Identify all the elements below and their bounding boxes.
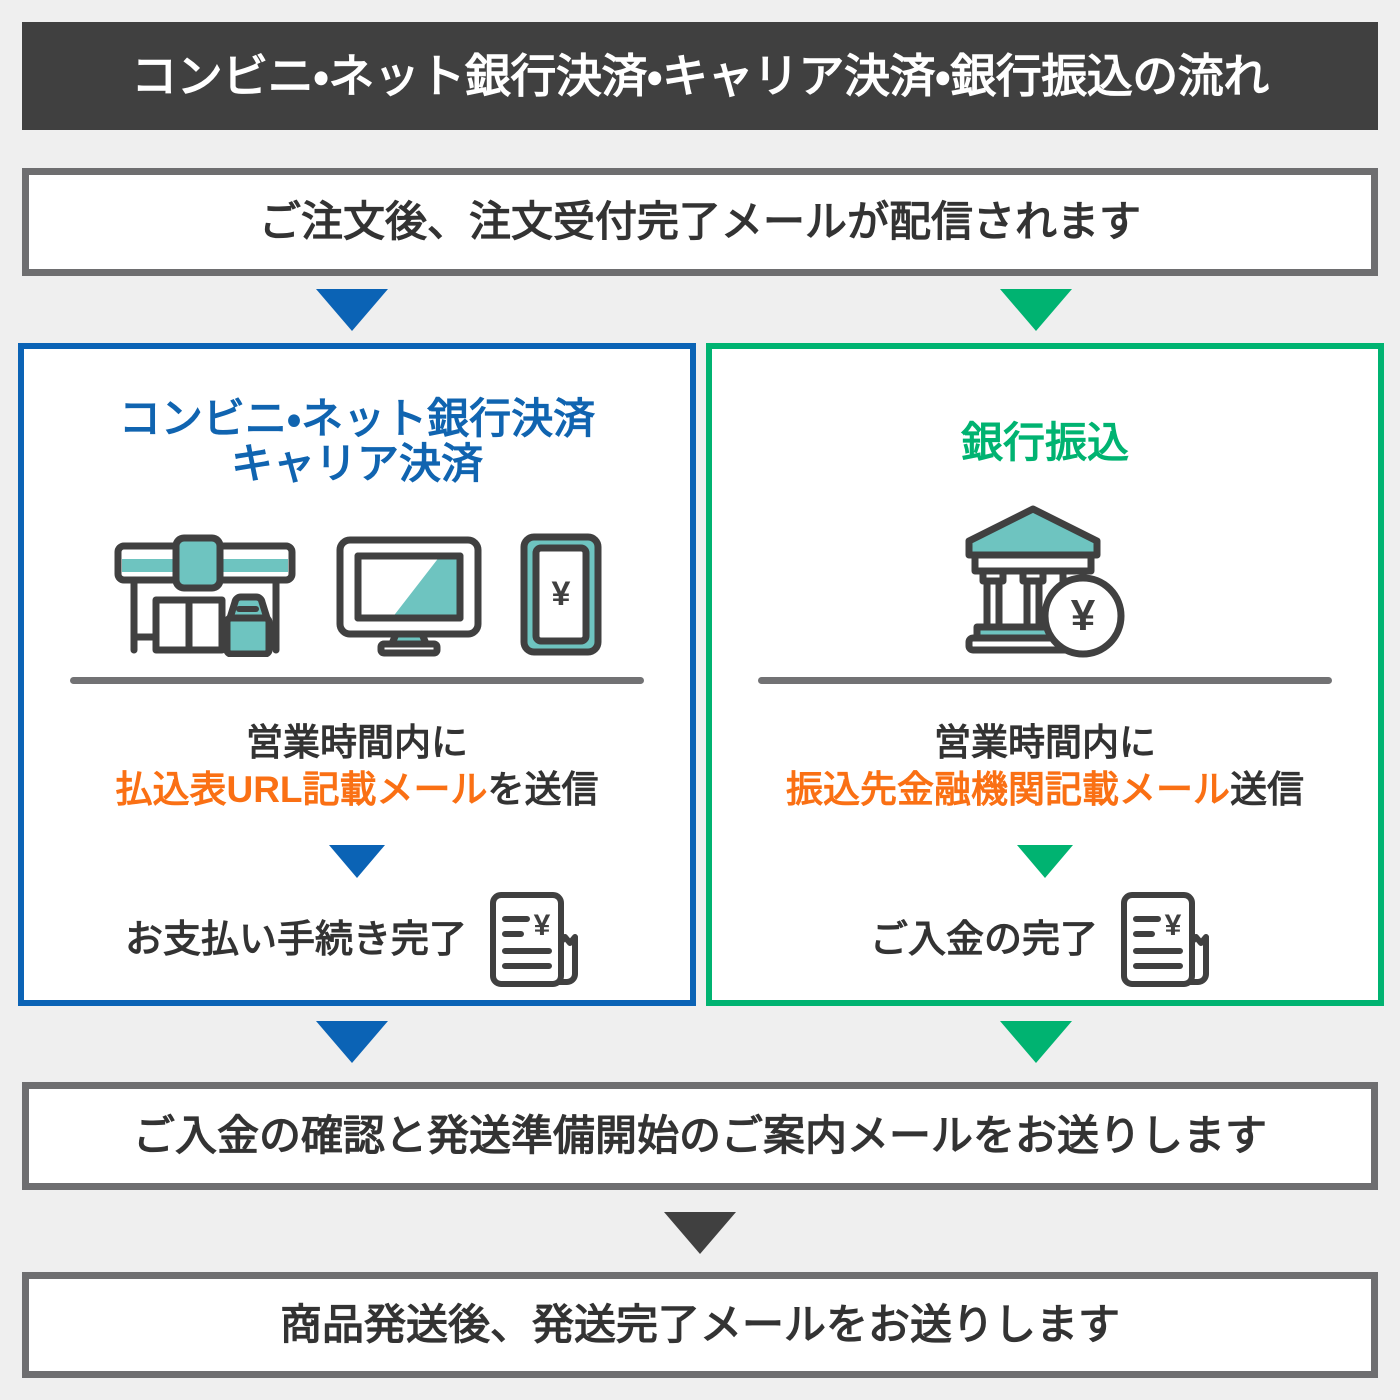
page-title: コンビニ・ネット銀行決済・キャリア決済・銀行振込の流れ	[131, 53, 1268, 99]
panel-bank-title: 銀行振込	[712, 421, 1378, 466]
panel-conveni-inner-down-arrow	[329, 845, 385, 878]
panel-conveni-send-prefix: 営業時間内に	[246, 722, 468, 763]
svg-text:¥: ¥	[1165, 909, 1182, 942]
panel-conveni-done-label: お支払い手続き完了	[125, 921, 467, 959]
invoice-yen-icon: ¥	[483, 889, 589, 991]
step-order-label: ご注文後、注文受付完了メールが配信されます	[259, 201, 1141, 243]
panel-bank-transfer-payment: 銀行振込	[706, 343, 1384, 1006]
smartphone-yen-icon: ¥	[518, 532, 604, 657]
down-arrow-to-shipped	[664, 1212, 736, 1254]
step-shipped-label: 商品発送後、発送完了メールをお送りします	[280, 1304, 1120, 1346]
header-banner: コンビニ・ネット銀行決済・キャリア決済・銀行振込の流れ	[22, 22, 1378, 130]
step-box-shipping-complete: 商品発送後、発送完了メールをお送りします	[22, 1272, 1378, 1378]
step-confirm-label: ご入金の確認と発送準備開始のご案内メールをお送りします	[133, 1115, 1267, 1157]
down-arrow-to-conveni-panel	[316, 289, 388, 331]
panel-conveni-title: コンビニ・ネット銀行決済 キャリア決済	[24, 397, 690, 487]
panel-conveni-divider	[70, 677, 644, 684]
bank-building-yen-icon: ¥	[957, 503, 1133, 659]
down-arrow-from-conveni-panel	[316, 1021, 388, 1063]
panel-bank-done-row: ご入金の完了 ¥	[712, 889, 1378, 991]
panel-convenience-store-payment: コンビニ・ネット銀行決済 キャリア決済	[18, 343, 696, 1006]
svg-text:¥: ¥	[1071, 591, 1096, 640]
panel-conveni-send-suffix: を送信	[488, 769, 599, 810]
down-arrow-to-bank-panel	[1000, 289, 1072, 331]
svg-text:¥: ¥	[552, 575, 571, 613]
down-arrow-from-bank-panel	[1000, 1021, 1072, 1063]
panel-conveni-send-text: 営業時間内に 払込表URL記載メールを送信	[24, 719, 690, 814]
panel-bank-send-text: 営業時間内に 振込先金融機関記載メール送信	[712, 719, 1378, 814]
svg-text:¥: ¥	[534, 909, 551, 942]
convenience-store-icon	[110, 532, 300, 657]
panel-bank-done-label: ご入金の完了	[870, 921, 1098, 959]
step-box-payment-confirmed: ご入金の確認と発送準備開始のご案内メールをお送りします	[22, 1082, 1378, 1190]
panel-bank-send-prefix: 営業時間内に	[934, 722, 1156, 763]
panel-bank-inner-down-arrow	[1017, 845, 1073, 878]
panel-bank-send-highlight: 振込先金融機関記載メール	[786, 769, 1230, 810]
invoice-yen-icon: ¥	[1114, 889, 1220, 991]
panel-conveni-done-row: お支払い手続き完了 ¥	[24, 889, 690, 991]
panel-bank-divider	[758, 677, 1332, 684]
panel-bank-icon-row: ¥	[712, 499, 1378, 659]
panel-bank-send-suffix: 送信	[1230, 769, 1304, 810]
payment-flow-diagram: コンビニ・ネット銀行決済・キャリア決済・銀行振込の流れ ご注文後、注文受付完了メ…	[0, 0, 1400, 1400]
panel-conveni-icon-row: ¥	[24, 527, 690, 657]
desktop-monitor-icon	[334, 532, 484, 657]
step-box-order-received: ご注文後、注文受付完了メールが配信されます	[22, 168, 1378, 276]
panel-conveni-send-highlight: 払込表URL記載メール	[115, 769, 487, 810]
